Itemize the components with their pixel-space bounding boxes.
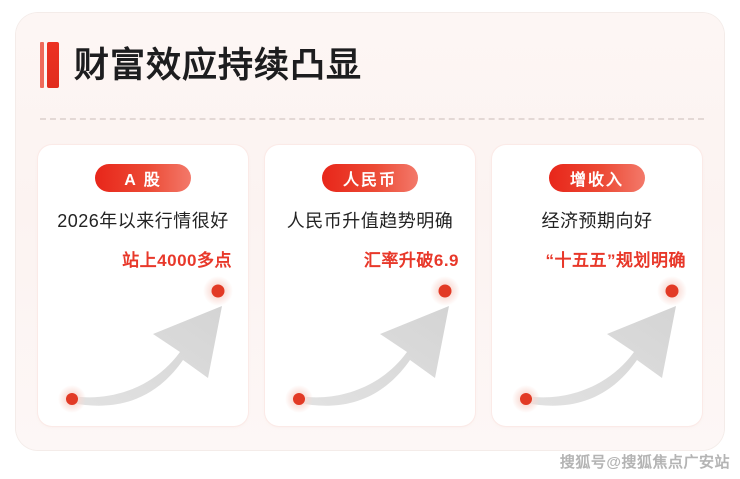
card-headline: 经济预期向好 [492,207,702,233]
watermark: 搜狐号@搜狐焦点广安站 [560,451,730,472]
dashed-divider [40,118,704,120]
card-headline: 人民币升值趋势明确 [265,207,475,233]
card-badge: 增收入 [549,164,645,192]
accent-bar-thin [40,42,44,88]
accent-bar-thick [47,42,59,88]
card-row: A 股 2026年以来行情很好 站上4000多点 [38,145,704,426]
card-highlight: 汇率升破6.9 [364,246,459,271]
card-badge: 人民币 [322,164,418,192]
card-badge: A 股 [95,164,191,192]
card-a-shares[interactable]: A 股 2026年以来行情很好 站上4000多点 [38,145,248,426]
up-trend-arrow-icon [504,270,690,420]
page-title: 财富效应持续凸显 [74,48,362,83]
header: 财富效应持续凸显 [40,39,362,91]
card-income[interactable]: 增收入 经济预期向好 “十五五”规划明确 [492,145,702,426]
card-rmb[interactable]: 人民币 人民币升值趋势明确 汇率升破6.9 [265,145,475,426]
up-trend-arrow-icon [277,270,463,420]
card-highlight: “十五五”规划明确 [546,246,687,271]
infographic-panel: 财富效应持续凸显 A 股 2026年以来行情很好 站上4000多点 [16,13,724,450]
up-trend-arrow-icon [50,270,236,420]
title-accent-bar-icon [40,42,59,88]
card-highlight: 站上4000多点 [122,246,232,271]
card-headline: 2026年以来行情很好 [38,207,248,233]
